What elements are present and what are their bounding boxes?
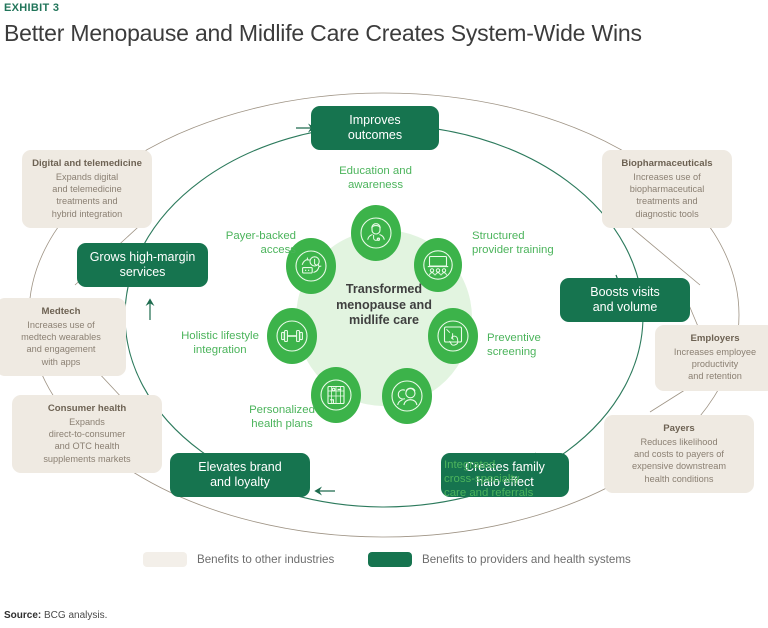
industry-box-consumer-health[interactable]: Consumer health Expands direct-to-consum… — [12, 395, 162, 473]
node-label-line: Preventive — [487, 332, 541, 344]
industry-box-line: health conditions — [645, 474, 714, 484]
node-label-line: care and referrals — [444, 487, 533, 499]
pill-line: outcomes — [348, 128, 402, 142]
industry-box-line: medtech wearables — [21, 332, 101, 342]
node-label-integrated-cross-specialty-care: Integrated cross-specialty care and refe… — [444, 458, 574, 501]
industry-box-line: Expands digital — [56, 172, 118, 182]
pill-line: Improves — [349, 113, 400, 127]
node-label-line: Education and — [339, 165, 412, 177]
center-title-line: menopause and — [336, 298, 432, 312]
node-integrated-cross-specialty-care[interactable] — [382, 368, 432, 424]
pill-line: and loyalty — [210, 475, 270, 489]
industry-box-line: supplements markets — [43, 454, 130, 464]
doctor-icon — [359, 216, 393, 250]
legend-item-other-industries: Benefits to other industries — [143, 552, 334, 567]
pill-line: services — [120, 265, 166, 279]
industry-box-title: Payers — [613, 422, 745, 435]
provider-pill-improves-outcomes[interactable]: Improves outcomes — [311, 106, 439, 150]
industry-box-line: treatments and — [636, 196, 697, 206]
industry-box-line: and telemedicine — [52, 184, 121, 194]
node-label-line: screening — [487, 346, 536, 358]
spur-payers — [650, 388, 688, 412]
industry-box-line: expensive downstream — [632, 461, 726, 471]
legend-swatch-green — [368, 552, 412, 567]
industry-box-line: hybrid integration — [52, 209, 122, 219]
legend: Benefits to other industries Benefits to… — [0, 552, 768, 576]
industry-box-line: Reduces likelihood — [640, 437, 717, 447]
industry-box-payers[interactable]: Payers Reduces likelihood and costs to p… — [604, 415, 754, 493]
center-title-line: midlife care — [349, 313, 419, 327]
industry-box-line: direct-to-consumer — [49, 429, 126, 439]
two-people-icon — [390, 379, 424, 413]
industry-box-line: diagnostic tools — [635, 209, 698, 219]
node-label-line: Structured — [472, 230, 525, 242]
legend-item-providers-health-systems: Benefits to providers and health systems — [368, 552, 631, 567]
industry-box-biopharmaceuticals[interactable]: Biopharmaceuticals Increases use of biop… — [602, 150, 732, 228]
node-structured-provider-training[interactable] — [414, 238, 462, 292]
node-label-line: health plans — [251, 418, 312, 430]
pill-line: Grows high-margin — [90, 250, 196, 264]
industry-box-line: Increases use of — [633, 172, 700, 182]
center-title-line: Transformed — [346, 282, 422, 296]
industry-box-line: Increases employee — [674, 347, 756, 357]
industry-box-title: Digital and telemedicine — [31, 157, 143, 170]
legend-label: Benefits to providers and health systems — [422, 553, 631, 566]
source-prefix: Source: — [4, 610, 41, 621]
industry-box-line: Expands — [69, 417, 105, 427]
industry-box-line: and retention — [688, 371, 742, 381]
provider-pill-boosts-visits-and-volume[interactable]: Boosts visits and volume — [560, 278, 690, 322]
training-board-icon — [422, 249, 454, 281]
industry-box-line: Increases use of — [27, 320, 94, 330]
industry-box-title: Biopharmaceuticals — [611, 157, 723, 170]
industry-box-title: Medtech — [5, 305, 117, 318]
legend-swatch-beige — [143, 552, 187, 567]
diagram-stage: Digital and telemedicine Expands digital… — [0, 70, 768, 540]
pill-line: Boosts visits — [590, 285, 659, 299]
node-label-line: Personalized — [249, 404, 315, 416]
industry-box-line: and engagement — [27, 344, 96, 354]
industry-box-title: Employers — [664, 332, 766, 345]
node-label-line: provider training — [472, 244, 554, 256]
industry-box-line: and costs to payers of — [634, 449, 724, 459]
industry-box-line: biopharmaceutical — [630, 184, 705, 194]
node-education-and-awareness[interactable] — [351, 205, 401, 261]
node-label-line: access — [261, 244, 296, 256]
node-label-line: Integrated — [444, 459, 495, 471]
industry-box-line: productivity — [692, 359, 738, 369]
exhibit-label: EXHIBIT 3 — [4, 2, 59, 14]
source-text: BCG analysis. — [44, 610, 107, 621]
pill-line: Elevates brand — [198, 460, 281, 474]
spur-biopharma — [620, 218, 700, 285]
legend-label: Benefits to other industries — [197, 553, 334, 566]
page-title: Better Menopause and Midlife Care Create… — [4, 20, 642, 47]
exhibit-page: EXHIBIT 3 Better Menopause and Midlife C… — [0, 0, 768, 628]
node-label-preventive-screening: Preventive screening — [487, 331, 597, 359]
node-preventive-screening[interactable] — [428, 308, 478, 364]
screening-tap-icon — [436, 319, 470, 353]
industry-box-medtech[interactable]: Medtech Increases use of medtech wearabl… — [0, 298, 126, 376]
node-label-holistic-lifestyle-integration: Holistic lifestyle integration — [158, 329, 282, 357]
industry-box-title: Consumer health — [21, 402, 153, 415]
industry-box-line: and OTC health — [55, 441, 120, 451]
node-label-line: integration — [193, 344, 246, 356]
source-note: Source: BCG analysis. — [4, 610, 107, 621]
industry-box-line: treatments and — [56, 196, 117, 206]
node-label-structured-provider-training: Structured provider training — [472, 229, 592, 257]
node-label-line: cross-specialty — [444, 473, 519, 485]
node-label-line: awareness — [348, 179, 403, 191]
node-label-line: Payer-backed — [226, 230, 296, 242]
industry-box-digital-and-telemedicine[interactable]: Digital and telemedicine Expands digital… — [22, 150, 152, 228]
provider-pill-elevates-brand-and-loyalty[interactable]: Elevates brand and loyalty — [170, 453, 310, 497]
node-label-personalized-health-plans: Personalized health plans — [222, 403, 342, 431]
payment-cycle-icon — [294, 249, 328, 283]
node-label-payer-backed-access: Payer-backed access — [188, 229, 296, 257]
industry-box-line: with apps — [42, 357, 81, 367]
industry-box-employers[interactable]: Employers Increases employee productivit… — [655, 325, 768, 391]
pill-line: and volume — [593, 300, 658, 314]
node-label-line: Holistic lifestyle — [181, 330, 259, 342]
node-label-education-and-awareness: Education and awareness — [318, 164, 433, 192]
